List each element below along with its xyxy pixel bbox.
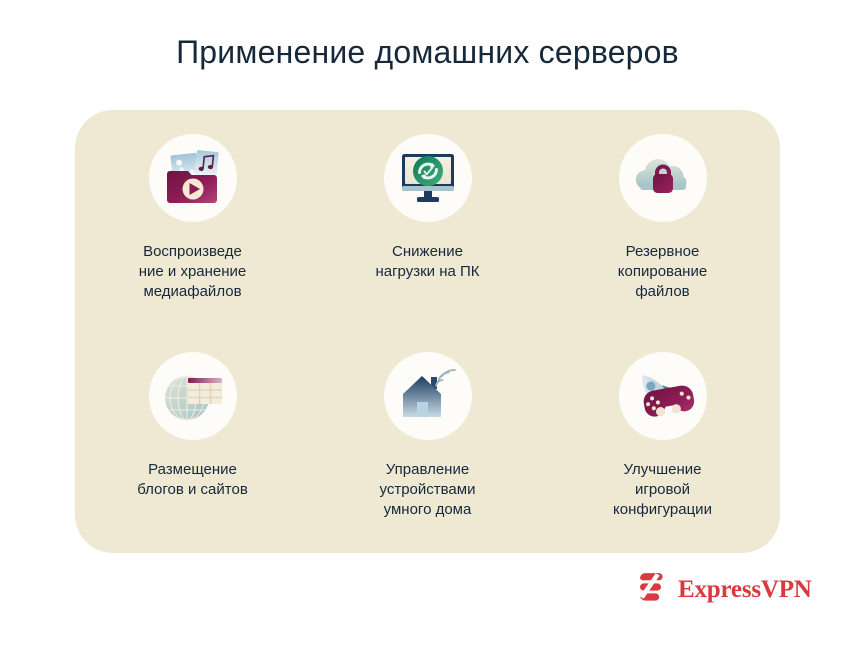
expressvpn-logo: ExpressVPN	[634, 570, 812, 609]
smart-home-icon	[398, 368, 458, 424]
globe-browser-icon	[162, 368, 224, 424]
use-case-label: Резервное копирование файлов	[573, 242, 753, 302]
use-case-label: Воспроизведе ние и хранение медиафайлов	[103, 242, 283, 302]
use-case-item-pc-load: Снижение нагрузки на ПК	[310, 128, 545, 338]
expressvpn-e-mark-icon	[634, 570, 668, 609]
page-title: Применение домашних серверов	[0, 34, 855, 71]
rocket-gamepad-icon	[631, 368, 695, 424]
use-case-label: Размещение блогов и сайтов	[103, 460, 283, 500]
use-case-item-gaming: Улучшение игровой конфигурации	[545, 338, 780, 548]
use-case-item-media: Воспроизведе ние и хранение медиафайлов	[75, 128, 310, 338]
icon-disc	[619, 134, 707, 222]
cloud-lock-icon	[631, 155, 695, 201]
monitor-sync-icon	[397, 150, 459, 206]
media-folder-icon	[162, 149, 224, 207]
infographic-page: Применение домашних серверов	[0, 0, 855, 645]
use-case-item-backup: Резервное копирование файлов	[545, 128, 780, 338]
icon-disc	[619, 352, 707, 440]
icon-disc	[384, 352, 472, 440]
use-case-grid: Воспроизведе ние и хранение медиафайлов	[75, 128, 780, 548]
expressvpn-wordmark: ExpressVPN	[678, 577, 812, 602]
icon-disc	[149, 134, 237, 222]
icon-disc	[384, 134, 472, 222]
use-case-item-smart-home: Управление устройствами умного дома	[310, 338, 545, 548]
use-case-item-hosting: Размещение блогов и сайтов	[75, 338, 310, 548]
use-case-label: Улучшение игровой конфигурации	[573, 460, 753, 520]
use-case-label: Управление устройствами умного дома	[338, 460, 518, 520]
icon-disc	[149, 352, 237, 440]
use-case-label: Снижение нагрузки на ПК	[338, 242, 518, 282]
